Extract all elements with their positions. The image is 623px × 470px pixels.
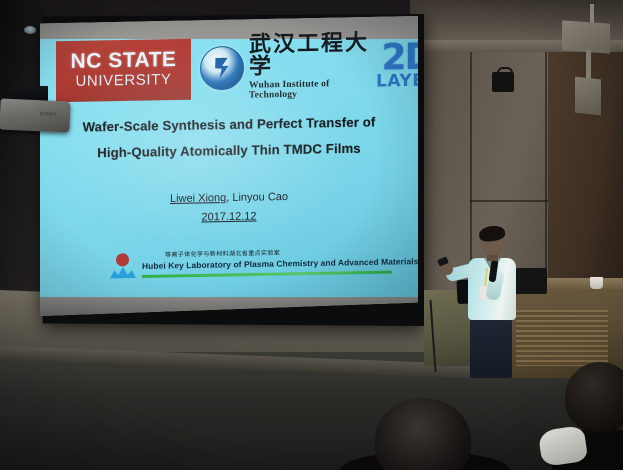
nc-state-name: NC STATE — [71, 49, 177, 72]
nc-state-university-word: UNIVERSITY — [75, 70, 171, 92]
lab-banner-rule — [142, 271, 392, 278]
university-seal-icon — [200, 46, 244, 91]
ceiling-speaker-icon — [562, 20, 610, 53]
ceiling-speaker-lower — [575, 77, 601, 116]
coauthor: , Linyou Cao — [226, 191, 288, 204]
wit-chinese-name: 武汉工程大学 — [249, 33, 370, 79]
speaker-person — [440, 228, 536, 378]
wall-panel-edge — [470, 200, 550, 202]
paper-cup-icon — [590, 277, 603, 289]
projector-icon: SONY — [0, 98, 71, 132]
lab-chinese-name: 等离子体化学与新材料湖北省重点实验室 — [165, 248, 280, 259]
2d-layer-logo: 2D LAYER — [376, 33, 418, 98]
nc-state-logo: NC STATE UNIVERSITY — [56, 39, 191, 103]
wit-text-group: 武汉工程大学 Wuhan Institute of Technology — [249, 33, 370, 101]
audience-head — [565, 362, 623, 432]
presenter-hand — [442, 264, 453, 275]
presentation-slide: NC STATE UNIVERSITY 武汉工程大学 Wuhan Institu… — [40, 16, 418, 316]
presenter-legs — [470, 318, 512, 378]
layer-word: LAYER — [376, 72, 418, 90]
projector-brand: SONY — [40, 111, 57, 118]
projection-screen: NC STATE UNIVERSITY 武汉工程大学 Wuhan Institu… — [40, 16, 418, 316]
slide-title-line1: Wafer-Scale Synthesis and Perfect Transf… — [83, 114, 376, 134]
wuhan-institute-logo-block: 武汉工程大学 Wuhan Institute of Technology — [200, 35, 370, 100]
slide-authors: Liwei Xiong, Linyou Cao 2017.12.12 — [64, 186, 394, 229]
wit-english-name: Wuhan Institute of Technology — [249, 80, 370, 101]
lab-english-name: Hubei Key Laboratory of Plasma Chemistry… — [142, 256, 418, 271]
presenting-author: Liwei Xiong — [170, 192, 226, 205]
wall-mounted-camera-icon — [492, 72, 514, 92]
lab-logo-sun — [116, 253, 129, 266]
slide-title: Wafer-Scale Synthesis and Perfect Transf… — [64, 109, 394, 166]
left-dark-wall — [0, 0, 46, 300]
hubei-lab-logo-icon — [110, 253, 136, 279]
lab-banner: 等离子体化学与新材料湖北省重点实验室 Hubei Key Laboratory … — [110, 245, 400, 284]
lecture-photo: NC STATE UNIVERSITY 武汉工程大学 Wuhan Institu… — [0, 0, 623, 470]
